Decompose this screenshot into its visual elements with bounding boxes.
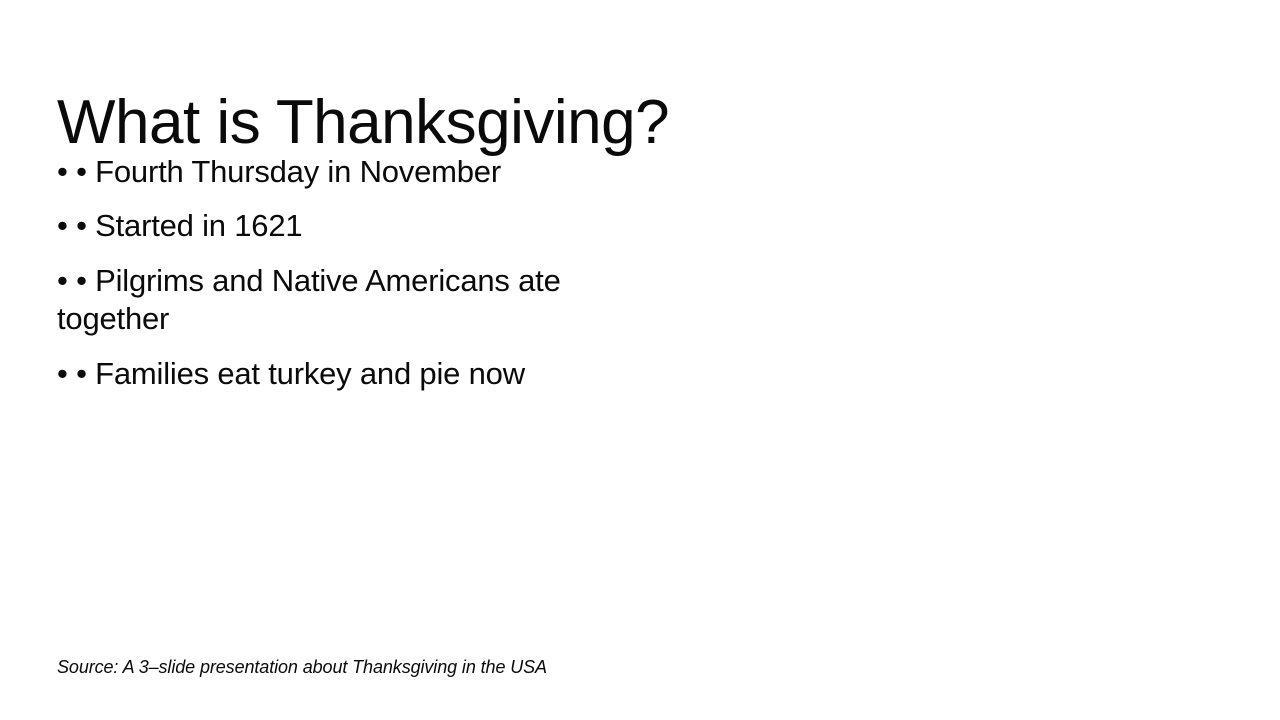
bullet-icon: • • [57, 356, 95, 391]
list-item-label: Pilgrims and Native Americans ate togeth… [57, 263, 561, 336]
bullet-icon: • • [57, 263, 95, 298]
list-item-label: Started in 1621 [95, 208, 302, 243]
bullet-list: • • Fourth Thursday in November • • Star… [57, 153, 597, 393]
page-title: What is Thanksgiving? [57, 90, 669, 157]
list-item: • • Pilgrims and Native Americans ate to… [57, 262, 597, 339]
slide-canvas: What is Thanksgiving? • • Fourth Thursda… [0, 0, 1280, 720]
list-item: • • Families eat turkey and pie now [57, 355, 597, 393]
list-item: • • Fourth Thursday in November [57, 153, 597, 191]
bullet-icon: • • [57, 154, 95, 189]
source-caption: Source: A 3–slide presentation about Tha… [57, 656, 547, 679]
list-item-label: Families eat turkey and pie now [95, 356, 525, 391]
list-item: • • Started in 1621 [57, 207, 597, 245]
list-item-label: Fourth Thursday in November [95, 154, 501, 189]
bullet-icon: • • [57, 208, 95, 243]
